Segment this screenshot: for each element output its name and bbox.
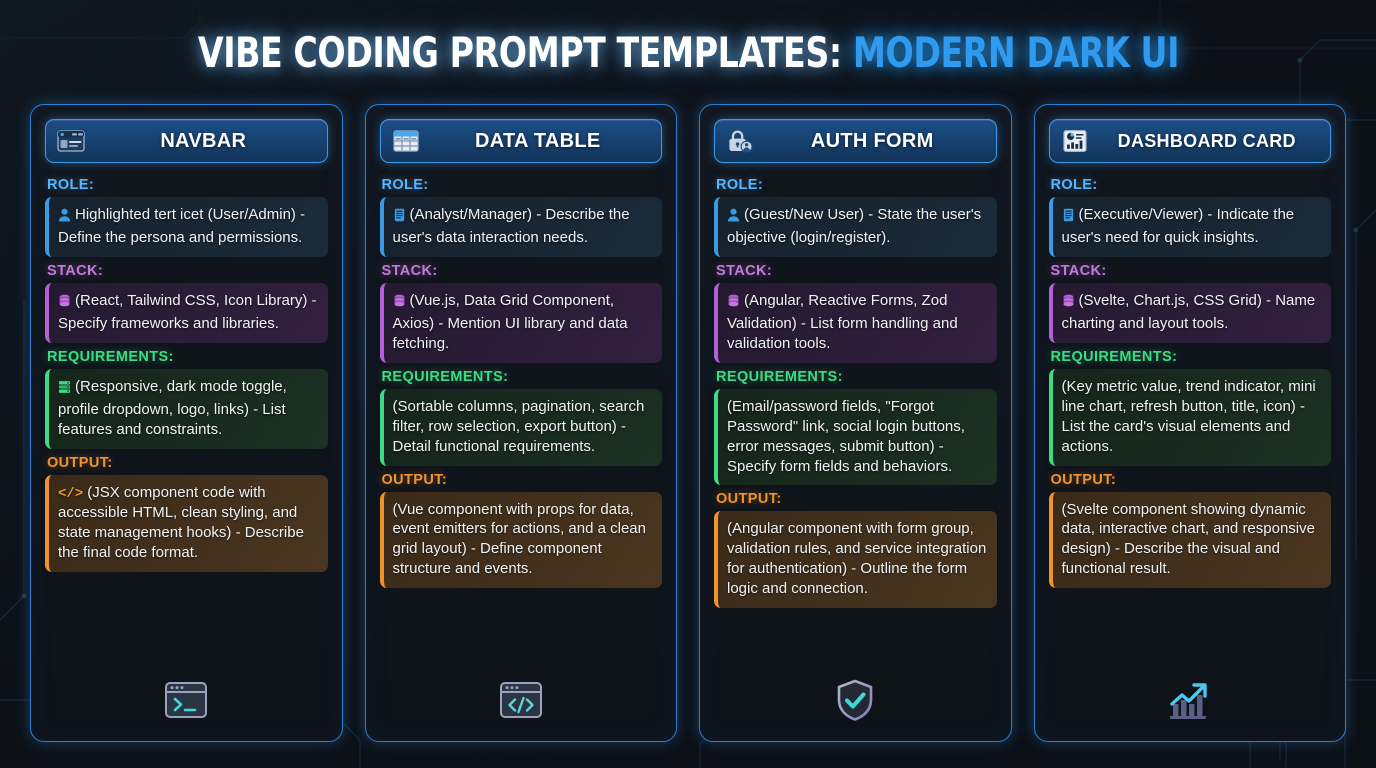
- card-footer-navbar: [45, 671, 328, 733]
- section-label-output: OUTPUT:: [380, 472, 663, 488]
- card-title: DASHBOARD CARD: [1100, 131, 1321, 152]
- section-role: ROLE: (Guest/New User) - State the user'…: [714, 177, 997, 257]
- card-footer-data-table: [380, 671, 663, 733]
- code-brackets-icon: </>: [58, 486, 83, 502]
- section-text-stack: (Svelte, Chart.js, CSS Grid) - Name char…: [1062, 292, 1316, 332]
- section-output: OUTPUT: (Vue component with props for da…: [380, 472, 663, 589]
- section-stack: STACK: (Svelte, Chart.js, CSS Grid) - Na…: [1049, 263, 1332, 343]
- section-text-stack: (Vue.js, Data Grid Component, Axios) - M…: [393, 292, 628, 352]
- section-label-role: ROLE:: [1049, 177, 1332, 193]
- section-requirements: REQUIREMENTS: (Email/password fields, "F…: [714, 369, 997, 486]
- section-text-stack: (React, Tailwind CSS, Icon Library) - Sp…: [58, 292, 316, 332]
- document-lines-icon: [393, 208, 406, 228]
- section-role: ROLE: (Executive/Viewer) - Indicate the …: [1049, 177, 1332, 257]
- section-requirements: REQUIREMENTS: (Sortable columns, paginat…: [380, 369, 663, 466]
- report-chart-icon: [1060, 128, 1090, 154]
- section-body-requirements: (Key metric value, trend indicator, mini…: [1049, 369, 1332, 466]
- card-title: DATA TABLE: [431, 130, 652, 153]
- database-icon: [727, 294, 740, 314]
- server-list-icon: [58, 380, 71, 400]
- section-body-role: (Guest/New User) - State the user's obje…: [714, 197, 997, 257]
- code-window-icon: [498, 679, 544, 726]
- section-output: OUTPUT: (Angular component with form gro…: [714, 491, 997, 608]
- section-body-requirements: (Sortable columns, pagination, search fi…: [380, 389, 663, 466]
- section-label-role: ROLE:: [45, 177, 328, 193]
- card-sections: ROLE: Highlighted tert icet (User/Admin)…: [45, 177, 328, 671]
- navbar-mockup-icon: [56, 128, 86, 154]
- section-label-requirements: REQUIREMENTS:: [1049, 349, 1332, 365]
- database-icon: [393, 294, 406, 314]
- section-body-requirements: (Email/password fields, "Forgot Password…: [714, 389, 997, 486]
- section-output: OUTPUT: </>(JSX component code with acce…: [45, 455, 328, 572]
- user-icon: [727, 208, 740, 228]
- shield-check-icon: [833, 677, 877, 728]
- section-label-stack: STACK:: [380, 263, 663, 279]
- section-body-stack: (Angular, Reactive Forms, Zod Validation…: [714, 283, 997, 363]
- page-title: VIBE CODING PROMPT TEMPLATES: MODERN DAR…: [0, 0, 1376, 104]
- card-title: AUTH FORM: [765, 130, 986, 153]
- card-header-navbar: NAVBAR: [45, 119, 328, 163]
- card-footer-dashboard-card: [1049, 671, 1332, 733]
- section-body-stack: (Vue.js, Data Grid Component, Axios) - M…: [380, 283, 663, 363]
- card-header-auth-form: AUTH FORM: [714, 119, 997, 163]
- section-label-output: OUTPUT:: [714, 491, 997, 507]
- section-text-stack: (Angular, Reactive Forms, Zod Validation…: [727, 292, 958, 352]
- page-title-accent: MODERN DARK UI: [852, 28, 1178, 77]
- section-stack: STACK: (Angular, Reactive Forms, Zod Val…: [714, 263, 997, 363]
- document-lines-icon: [1062, 208, 1075, 228]
- card-sections: ROLE: (Executive/Viewer) - Indicate the …: [1049, 177, 1332, 671]
- user-icon: [58, 208, 71, 228]
- section-role: ROLE: Highlighted tert icet (User/Admin)…: [45, 177, 328, 257]
- template-card-dashboard-card[interactable]: DASHBOARD CARD ROLE: (Executive/Viewer) …: [1034, 104, 1347, 742]
- section-body-role: Highlighted tert icet (User/Admin) - Def…: [45, 197, 328, 257]
- section-label-requirements: REQUIREMENTS:: [714, 369, 997, 385]
- section-output: OUTPUT: (Svelte component showing dynami…: [1049, 472, 1332, 589]
- section-text-role: (Analyst/Manager) - Describe the user's …: [393, 206, 630, 246]
- section-stack: STACK: (Vue.js, Data Grid Component, Axi…: [380, 263, 663, 363]
- card-header-dashboard-card: DASHBOARD CARD: [1049, 119, 1332, 163]
- section-body-output: </>(JSX component code with accessible H…: [45, 475, 328, 572]
- trending-bar-chart-icon: [1165, 678, 1215, 727]
- table-grid-icon: [391, 128, 421, 154]
- lock-user-icon: [725, 128, 755, 154]
- section-label-role: ROLE:: [714, 177, 997, 193]
- database-icon: [1062, 294, 1075, 314]
- page-title-main: VIBE CODING PROMPT TEMPLATES:: [197, 28, 852, 77]
- card-sections: ROLE: (Guest/New User) - State the user'…: [714, 177, 997, 671]
- section-label-output: OUTPUT:: [45, 455, 328, 471]
- section-label-stack: STACK:: [45, 263, 328, 279]
- database-icon: [58, 294, 71, 314]
- section-body-role: (Executive/Viewer) - Indicate the user's…: [1049, 197, 1332, 257]
- section-label-role: ROLE:: [380, 177, 663, 193]
- template-cards-row: NAVBAR ROLE: Highlighted tert icet (User…: [0, 104, 1376, 768]
- section-label-output: OUTPUT:: [1049, 472, 1332, 488]
- section-body-stack: (Svelte, Chart.js, CSS Grid) - Name char…: [1049, 283, 1332, 343]
- section-label-requirements: REQUIREMENTS:: [45, 349, 328, 365]
- section-text-requirements: (Responsive, dark mode toggle, profile d…: [58, 378, 287, 438]
- section-body-output: (Angular component with form group, vali…: [714, 511, 997, 608]
- template-card-navbar[interactable]: NAVBAR ROLE: Highlighted tert icet (User…: [30, 104, 343, 742]
- section-text-role: (Executive/Viewer) - Indicate the user's…: [1062, 206, 1295, 246]
- terminal-window-icon: [163, 679, 209, 726]
- card-header-data-table: DATA TABLE: [380, 119, 663, 163]
- section-requirements: REQUIREMENTS: (Responsive, dark mode tog…: [45, 349, 328, 449]
- section-label-stack: STACK:: [1049, 263, 1332, 279]
- section-body-output: (Vue component with props for data, even…: [380, 492, 663, 589]
- section-text-role: Highlighted tert icet (User/Admin) - Def…: [58, 206, 305, 246]
- template-card-auth-form[interactable]: AUTH FORM ROLE: (Guest/New User) - State…: [699, 104, 1012, 742]
- card-footer-auth-form: [714, 671, 997, 733]
- template-card-data-table[interactable]: DATA TABLE ROLE: (Analyst/Manager) - Des…: [365, 104, 678, 742]
- section-body-requirements: (Responsive, dark mode toggle, profile d…: [45, 369, 328, 449]
- card-title: NAVBAR: [96, 130, 317, 153]
- section-stack: STACK: (React, Tailwind CSS, Icon Librar…: [45, 263, 328, 343]
- section-label-stack: STACK:: [714, 263, 997, 279]
- section-role: ROLE: (Analyst/Manager) - Describe the u…: [380, 177, 663, 257]
- section-body-role: (Analyst/Manager) - Describe the user's …: [380, 197, 663, 257]
- card-sections: ROLE: (Analyst/Manager) - Describe the u…: [380, 177, 663, 671]
- section-body-output: (Svelte component showing dynamic data, …: [1049, 492, 1332, 589]
- section-text-output: (JSX component code with accessible HTML…: [58, 484, 304, 561]
- section-text-role: (Guest/New User) - State the user's obje…: [727, 206, 981, 246]
- section-body-stack: (React, Tailwind CSS, Icon Library) - Sp…: [45, 283, 328, 343]
- section-requirements: REQUIREMENTS: (Key metric value, trend i…: [1049, 349, 1332, 466]
- section-label-requirements: REQUIREMENTS:: [380, 369, 663, 385]
